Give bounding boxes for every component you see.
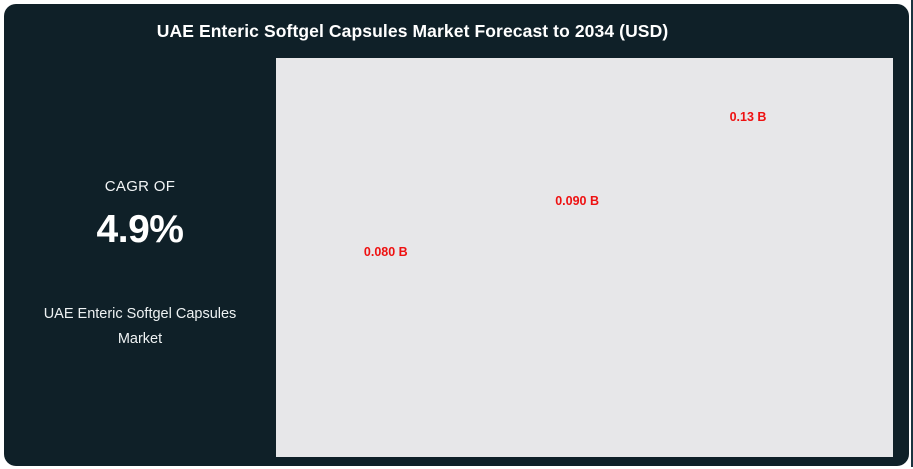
infographic-root: UAE Enteric Softgel Capsules Market Fore… [0, 0, 913, 469]
cagr-sidebar: CAGR OF 4.9% UAE Enteric Softgel Capsule… [4, 58, 276, 466]
data-label-point-1: 0.080 B [364, 245, 408, 259]
chart-plot-area: 0.080 B 0.090 B 0.13 B [276, 58, 893, 457]
page-title: UAE Enteric Softgel Capsules Market Fore… [157, 21, 669, 42]
data-label-point-3: 0.13 B [730, 110, 767, 124]
market-caption: UAE Enteric Softgel Capsules Market [20, 302, 260, 353]
title-bar: UAE Enteric Softgel Capsules Market Fore… [4, 4, 909, 58]
cagr-label: CAGR OF [4, 178, 276, 195]
cagr-value: 4.9% [4, 210, 276, 249]
data-label-point-2: 0.090 B [555, 194, 599, 208]
forecast-card: UAE Enteric Softgel Capsules Market Fore… [4, 4, 909, 466]
